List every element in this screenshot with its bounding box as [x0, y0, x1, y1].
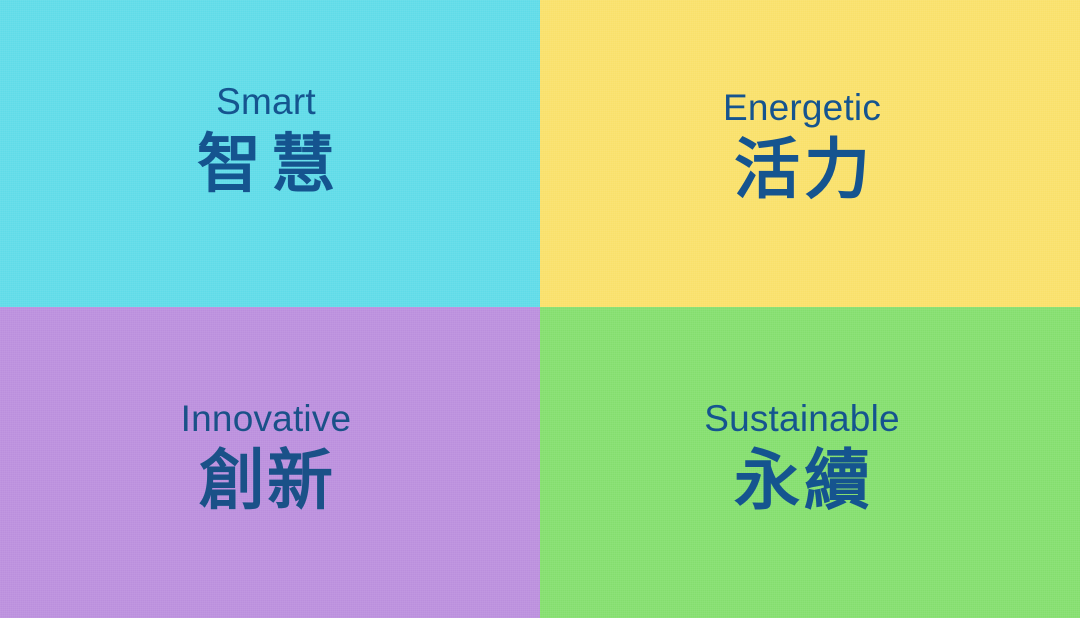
panel-innovative-label-en: Innovative	[181, 400, 352, 437]
brand-values-grid: Smart 智慧 Energetic 活力 Innovative 創新 Sust…	[0, 0, 1080, 618]
panel-sustainable-label-en: Sustainable	[704, 400, 900, 437]
panel-smart-label-en: Smart	[216, 83, 316, 120]
panel-innovative-text-block: Innovative 創新	[181, 400, 352, 514]
panel-innovative: Innovative 創新	[0, 307, 540, 618]
panel-smart-label-zh: 智慧	[187, 133, 345, 197]
panel-energetic-label-en: Energetic	[723, 89, 881, 126]
panel-energetic: Energetic 活力	[540, 0, 1080, 307]
panel-sustainable-text-block: Sustainable 永續	[704, 400, 900, 514]
panel-energetic-text-block: Energetic 活力	[723, 89, 881, 203]
panel-sustainable-label-zh: 永續	[730, 448, 874, 514]
panel-smart: Smart 智慧	[0, 0, 540, 307]
panel-smart-text-block: Smart 智慧	[187, 83, 345, 197]
panel-energetic-label-zh: 活力	[730, 137, 874, 203]
panel-innovative-label-zh: 創新	[197, 448, 335, 514]
panel-sustainable: Sustainable 永續	[540, 307, 1080, 618]
